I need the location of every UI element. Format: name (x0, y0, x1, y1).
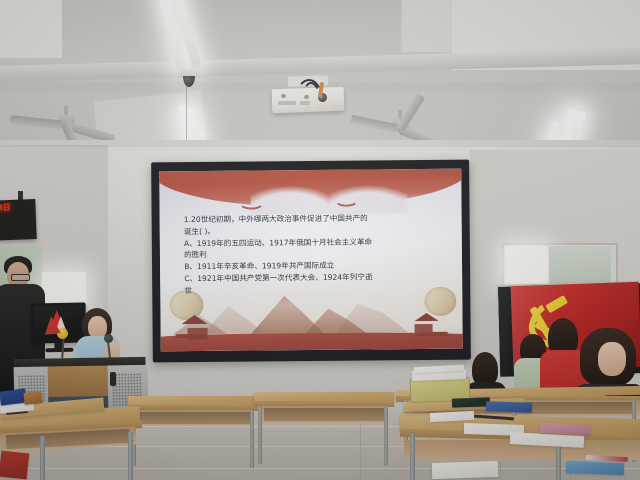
slide-drapery-decoration (159, 169, 461, 215)
slide-question-text: 1.20世纪初期，中外哪两大政治事件促进了中国共产的 诞生( )。 A、1919… (184, 212, 444, 297)
led-row-1: 月18日 (0, 202, 11, 214)
ceiling-fan (18, 106, 114, 140)
projection-screen[interactable]: 1.20世纪初期，中外哪两大政治事件促进了中国共产的 诞生( )。 A、1919… (151, 160, 471, 363)
right-window-light (505, 246, 547, 284)
folder (452, 397, 490, 407)
glasses (11, 274, 30, 281)
dome-security-camera (178, 68, 200, 86)
led-scrolling-sign: 月18日 分 天 (0, 199, 37, 241)
microphone-icon (104, 334, 113, 343)
screen-display-area: 1.20世纪初期，中外哪两大政治事件促进了中国共产的 诞生( )。 A、1919… (159, 169, 463, 352)
notebook (486, 401, 532, 413)
ceiling-projector (272, 84, 344, 116)
small-red-flag (43, 315, 61, 335)
red-item (0, 451, 29, 480)
presentation-slide: 1.20世纪初期，中外哪两大政治事件促进了中国共产的 诞生( )。 A、1919… (159, 169, 463, 352)
ceiling-fan (352, 110, 448, 144)
notebook (566, 461, 624, 475)
podium-device (110, 372, 116, 386)
right-window-pane (549, 246, 611, 284)
worksheet (432, 461, 499, 479)
classroom-photo: 1.20世纪初期，中外哪两大政治事件促进了中国共产的 诞生( )。 A、1919… (0, 0, 640, 480)
book (23, 391, 42, 405)
slide-line-7: 世 (184, 283, 444, 297)
